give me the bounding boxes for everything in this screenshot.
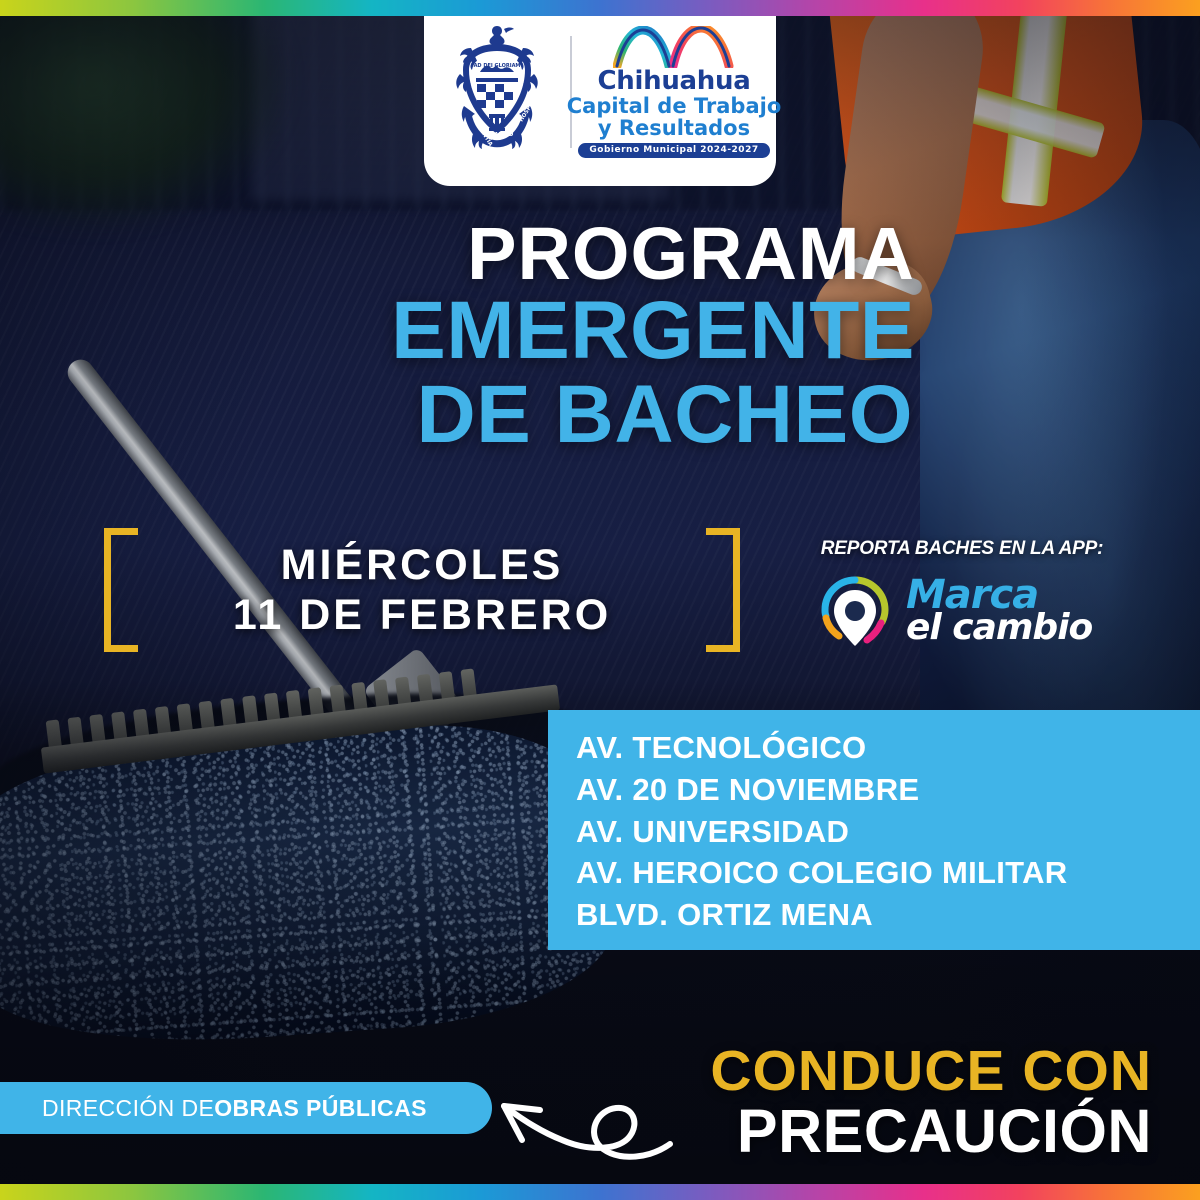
date-block: MIÉRCOLES 11 DE FEBRERO bbox=[104, 528, 740, 652]
marca-el-cambio-wordmark: Marca el cambio bbox=[906, 579, 1092, 643]
caution-block: CONDUCE CON PRECAUCIÓN bbox=[710, 1043, 1152, 1162]
street-item: AV. UNIVERSIDAD bbox=[576, 812, 1200, 853]
caution-line-2: PRECAUCIÓN bbox=[710, 1100, 1152, 1162]
headline-line-3: DE BACHEO bbox=[391, 373, 913, 457]
chihuahua-tagline-line2: y Resultados bbox=[598, 118, 750, 139]
street-list-panel: AV. TECNOLÓGICO AV. 20 DE NOVIEMBRE AV. … bbox=[548, 710, 1200, 950]
caution-line-1: CONDUCE CON bbox=[710, 1043, 1152, 1100]
app-callout-block: REPORTA BACHES EN LA APP: Marca el cambi… bbox=[812, 538, 1112, 652]
chihuahua-brand-lockup: Chihuahua Capital de Trabajo y Resultado… bbox=[586, 26, 762, 157]
logo-divider bbox=[570, 36, 572, 148]
chihuahua-tagline-line1: Capital de Trabajo bbox=[567, 96, 782, 117]
chihuahua-wordmark: Chihuahua bbox=[598, 69, 751, 94]
chihuahua-coat-of-arms-icon: AD DEI GLORIAM VALENTÍA LEALTAD HOSPITAL… bbox=[438, 22, 556, 162]
department-pill: DIRECCIÓN DE OBRAS PÚBLICAS bbox=[0, 1082, 492, 1134]
headline-line-2: EMERGENTE bbox=[391, 289, 915, 373]
brand-line-elcambio: el cambio bbox=[906, 613, 1092, 643]
department-prefix: DIRECCIÓN DE bbox=[42, 1095, 214, 1122]
curved-arrow-icon bbox=[470, 1066, 680, 1176]
logo-header-card: AD DEI GLORIAM VALENTÍA LEALTAD HOSPITAL… bbox=[424, 0, 776, 186]
headline-line-1: PROGRAMA bbox=[391, 218, 915, 289]
marca-el-cambio-lockup[interactable]: Marca el cambio bbox=[812, 570, 1112, 652]
street-item: BLVD. ORTIZ MENA bbox=[576, 895, 1200, 936]
location-pin-icon bbox=[812, 570, 898, 652]
svg-text:LEALTAD: LEALTAD bbox=[487, 132, 514, 138]
headline-block: PROGRAMA EMERGENTE DE BACHEO bbox=[391, 218, 915, 456]
date-day-month: 11 DE FEBRERO bbox=[233, 591, 611, 639]
date-text: MIÉRCOLES 11 DE FEBRERO bbox=[104, 528, 740, 652]
top-gradient-strip bbox=[0, 0, 1200, 16]
street-item: AV. HEROICO COLEGIO MILITAR bbox=[576, 853, 1200, 894]
date-weekday: MIÉRCOLES bbox=[281, 541, 564, 589]
svg-text:AD DEI GLORIAM: AD DEI GLORIAM bbox=[474, 63, 521, 69]
poster-canvas: AD DEI GLORIAM VALENTÍA LEALTAD HOSPITAL… bbox=[0, 0, 1200, 1200]
street-item: AV. 20 DE NOVIEMBRE bbox=[576, 770, 1200, 811]
government-period-badge: Gobierno Municipal 2024-2027 bbox=[578, 143, 769, 158]
department-name: OBRAS PÚBLICAS bbox=[214, 1095, 427, 1122]
app-callout-label: REPORTA BACHES EN LA APP: bbox=[812, 538, 1112, 560]
chihuahua-mountains-icon bbox=[613, 26, 735, 68]
street-item: AV. TECNOLÓGICO bbox=[576, 728, 1200, 769]
bottom-gradient-strip bbox=[0, 1184, 1200, 1200]
